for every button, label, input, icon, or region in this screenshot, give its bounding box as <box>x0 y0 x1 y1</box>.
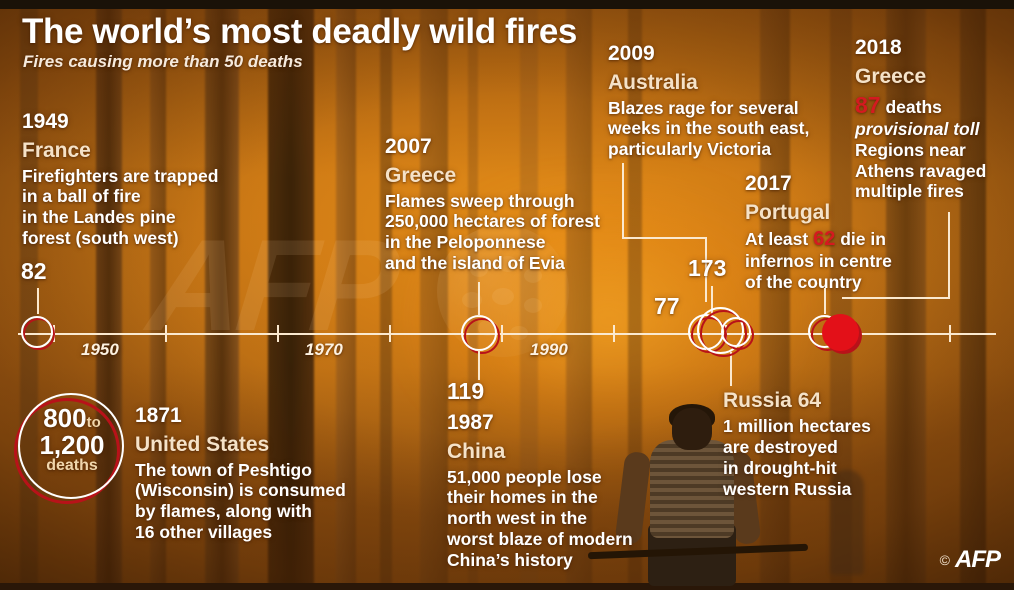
event-country: Portugal <box>745 200 892 225</box>
event-body-line: in the Peloponnese <box>385 232 600 253</box>
event-country: Greece <box>385 163 600 188</box>
event-body-line: 1 million hectares <box>723 416 871 437</box>
event-country: Australia <box>608 70 809 95</box>
connector-australia-horizontal <box>622 237 706 239</box>
deaths-count-greece-2018: 87 <box>855 92 881 118</box>
event-body-line: 51,000 people lose <box>447 467 633 488</box>
event-marker-greece-2018[interactable] <box>822 314 859 351</box>
event-body-line: multiple fires <box>855 181 986 202</box>
event-year: 1871 <box>135 404 346 428</box>
annotation-united-states-1871: 1871 United States The town of Peshtigo … <box>135 404 346 543</box>
deaths-range-connector: to <box>87 414 101 431</box>
annotation-france-1949: 1949 France Firefighters are trapped in … <box>22 110 218 249</box>
event-body-line: north west in the <box>447 508 633 529</box>
event-country: Greece <box>855 64 986 89</box>
deaths-unit-word: deaths <box>24 458 120 474</box>
event-country-deaths: Russia 64 <box>723 388 871 413</box>
event-body-line: 250,000 hectares of forest <box>385 211 600 232</box>
annotation-greece-2018: 2018 Greece 87 deaths provisional toll R… <box>855 36 986 202</box>
annotation-china-1987: 1987 China 51,000 people lose their home… <box>447 411 633 571</box>
event-body-line: of the country <box>745 272 892 293</box>
event-body-line: are destroyed <box>723 437 871 458</box>
copyright-icon: © <box>940 552 950 568</box>
event-body-line: Athens ravaged <box>855 161 986 182</box>
event-body-line: particularly Victoria <box>608 139 809 160</box>
event-body-line: Flames sweep through <box>385 191 600 212</box>
timeline-year-label-1990: 1990 <box>530 340 568 360</box>
event-body-line: forest (south west) <box>22 228 218 249</box>
annotation-australia-2009: 2009 Australia Blazes rage for several w… <box>608 42 809 160</box>
event-country: United States <box>135 432 346 457</box>
page-title: The world’s most deadly wild fires <box>22 12 577 52</box>
event-body-line: weeks in the south east, <box>608 118 809 139</box>
event-year: 1949 <box>22 110 218 134</box>
event-body-line: Blazes rage for several <box>608 98 809 119</box>
event-year: 2018 <box>855 36 986 60</box>
event-body-line: in drought-hit <box>723 458 871 479</box>
connector-australia-vertical-top <box>622 163 624 238</box>
event-year: 2009 <box>608 42 809 66</box>
credit-block: © AFP <box>940 546 1000 574</box>
timeline-tick <box>613 325 615 342</box>
connector-greece-2018-horizontal <box>842 297 950 299</box>
event-country: France <box>22 138 218 163</box>
event-body-line: and the island of Evia <box>385 253 600 274</box>
event-body-line: Regions near <box>855 140 986 161</box>
event-deaths-line: 87 deaths <box>855 92 986 119</box>
connector-greece-2018-vertical <box>948 212 950 298</box>
timeline-year-label-1970: 1970 <box>305 340 343 360</box>
afp-logo: AFP <box>955 546 1000 574</box>
timeline-tick <box>389 325 391 342</box>
deaths-upper-bound: 1,200 <box>24 432 120 459</box>
event-year: 1987 <box>447 411 633 435</box>
page-subtitle: Fires causing more than 50 deaths <box>23 52 303 72</box>
timeline-year-label-1950: 1950 <box>81 340 119 360</box>
annotation-russia: Russia 64 1 million hectares are destroy… <box>723 388 871 499</box>
provisional-toll-note: provisional toll <box>855 119 986 140</box>
deaths-count-australia-2009: 77 <box>654 293 680 320</box>
event-body-first-line: At least 62 die in <box>745 228 892 252</box>
timeline-tick <box>277 325 279 342</box>
event-body-line: western Russia <box>723 479 871 500</box>
event-body-line: The town of Peshtigo <box>135 460 346 481</box>
event-body-line: in a ball of fire <box>22 186 218 207</box>
connector-russia-64 <box>730 352 732 386</box>
event-marker-china-1987[interactable] <box>461 315 497 351</box>
connector-france-1949 <box>37 288 39 314</box>
event-body-line: in the Landes pine <box>22 207 218 228</box>
deaths-count-france-1949: 82 <box>21 258 47 285</box>
timeline-tick <box>165 325 167 342</box>
event-marker-france-1949[interactable] <box>21 316 53 348</box>
connector-greece-2007 <box>478 282 480 316</box>
event-body-line: worst blaze of modern <box>447 529 633 550</box>
event-body-line: infernos in centre <box>745 251 892 272</box>
timeline-tick <box>949 325 951 342</box>
event-marker-russia-64[interactable] <box>721 317 751 347</box>
timeline-tick <box>501 325 503 342</box>
annotation-greece-2007: 2007 Greece Flames sweep through 250,000… <box>385 135 600 274</box>
connector-portugal-2017 <box>824 288 826 314</box>
event-body-line: by flames, along with <box>135 501 346 522</box>
event-body-line: China’s history <box>447 550 633 571</box>
event-body-suffix: die in <box>840 229 886 249</box>
deaths-word: deaths <box>885 97 941 117</box>
deaths-count-russia-173: 173 <box>688 255 726 282</box>
deaths-range-top-line: 800to <box>24 405 120 432</box>
deaths-count-portugal-2017: 62 <box>813 228 835 250</box>
event-body-line: their homes in the <box>447 487 633 508</box>
event-body-prefix: At least <box>745 229 808 249</box>
event-year: 2007 <box>385 135 600 159</box>
event-country: China <box>447 439 633 464</box>
connector-china-1987 <box>478 350 480 380</box>
deaths-lower-bound: 800 <box>43 403 86 433</box>
event-body-line: Firefighters are trapped <box>22 166 218 187</box>
deaths-count-china-1987: 119 <box>447 378 484 405</box>
event-body-line: 16 other villages <box>135 522 346 543</box>
deaths-circle-label-1871: 800to 1,200 deaths <box>24 405 120 474</box>
event-body-line: (Wisconsin) is consumed <box>135 480 346 501</box>
